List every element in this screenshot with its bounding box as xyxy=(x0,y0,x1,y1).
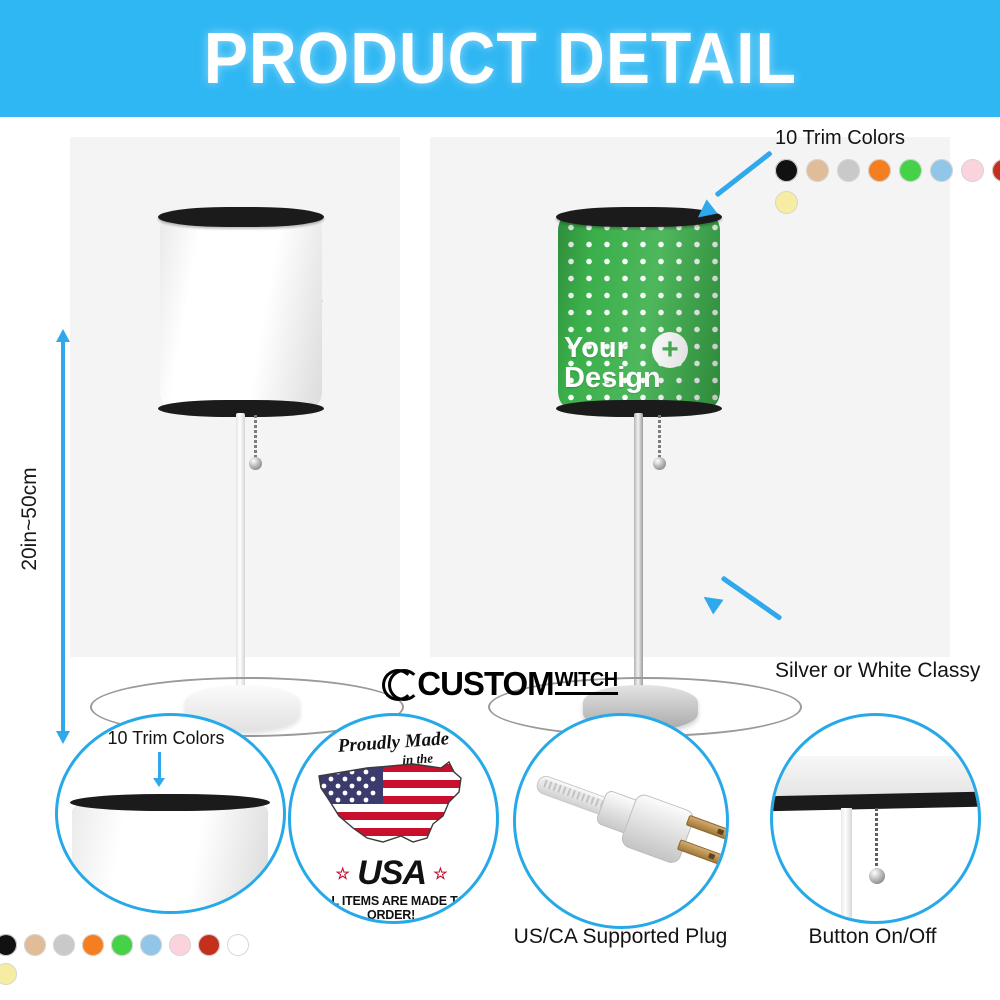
height-dimension-label: 20in~50cm xyxy=(18,434,42,604)
shade-trim-top xyxy=(158,207,324,227)
trim-swatch-row-2 xyxy=(775,191,1000,214)
lampshade-green: Your Design + xyxy=(558,207,720,414)
swatch-orange[interactable] xyxy=(868,159,891,182)
lamp-pole xyxy=(841,808,852,924)
down-arrow-head-icon xyxy=(153,778,165,787)
pull-chain[interactable] xyxy=(254,415,257,460)
logo-secondary-wrap: WITCH xyxy=(555,670,618,695)
swatch-dark-red[interactable] xyxy=(198,934,220,956)
swatch-dark-red[interactable] xyxy=(992,159,1000,182)
pull-chain[interactable] xyxy=(875,808,878,870)
logo-primary-text: CUSTOM xyxy=(417,665,553,703)
logo-secondary-text: WITCH xyxy=(555,670,618,690)
feature-made-in-usa: Proudly Made in the xyxy=(288,713,503,1000)
feature-plug: US/CA Supported Plug xyxy=(513,713,738,1000)
trim-colors-block: 10 Trim Colors xyxy=(775,127,1000,214)
feature-label-plug: US/CA Supported Plug xyxy=(503,925,738,949)
pull-chain-ball[interactable] xyxy=(249,457,262,470)
swatch-light-gray[interactable] xyxy=(53,934,75,956)
main-stage: 7in~18cm 20in~50cm xyxy=(0,117,1000,660)
lampshade-white xyxy=(160,207,322,414)
feature-switch: Button On/Off xyxy=(770,713,985,1000)
usa-subtext: ALL ITEMS ARE MADE TO ORDER! xyxy=(291,894,491,922)
swatch-tan[interactable] xyxy=(24,934,46,956)
shade-surface xyxy=(160,215,322,407)
swatch-pink[interactable] xyxy=(961,159,984,182)
base-callout-arrow xyxy=(706,549,796,609)
feature-title: 10 Trim Colors xyxy=(86,728,246,749)
lampshade-closeup xyxy=(70,794,270,914)
swatch-tan[interactable] xyxy=(806,159,829,182)
swatch-light-blue[interactable] xyxy=(140,934,162,956)
swatch-black[interactable] xyxy=(775,159,798,182)
page-title: PRODUCT DETAIL xyxy=(203,18,796,100)
brand-logo: CUSTOM WITCH xyxy=(0,663,1000,705)
trim-swatch-row-1 xyxy=(775,159,1000,182)
pull-chain[interactable] xyxy=(658,415,661,460)
star-right-icon: ☆ xyxy=(433,866,446,883)
swatch-white[interactable] xyxy=(227,934,249,956)
bottom-swatch-row-1 xyxy=(0,934,249,956)
us-plug-icon xyxy=(513,743,729,929)
usa-word: ☆ USA ☆ xyxy=(291,856,491,892)
trim-callout-arrow xyxy=(698,165,784,227)
bottom-swatch-row-2 xyxy=(0,963,249,985)
bottom-trim-swatches xyxy=(0,925,249,985)
shade-shading-overlay xyxy=(558,215,720,407)
swatch-light-gray[interactable] xyxy=(837,159,860,182)
swatch-pink[interactable] xyxy=(169,934,191,956)
swatch-yellow[interactable] xyxy=(775,191,798,214)
feature-circle: 10 Trim Colors xyxy=(55,713,286,914)
star-left-icon: ☆ xyxy=(335,866,348,883)
trim-colors-title: 10 Trim Colors xyxy=(775,127,1000,150)
usa-flag-map-icon xyxy=(309,758,473,854)
product-detail-page: PRODUCT DETAIL 7in~18cm 20in~50cm xyxy=(0,0,1000,1000)
swatch-light-blue[interactable] xyxy=(930,159,953,182)
logo-underline xyxy=(555,692,618,695)
feature-circle: Proudly Made in the xyxy=(288,713,499,924)
logo-c-mark-icon xyxy=(382,667,416,701)
header-banner: PRODUCT DETAIL xyxy=(0,0,1000,117)
feature-circle xyxy=(513,713,729,929)
pull-chain-ball[interactable] xyxy=(869,868,885,884)
down-arrow-shaft-icon xyxy=(158,752,161,780)
swatch-yellow[interactable] xyxy=(0,963,17,985)
swatch-green[interactable] xyxy=(899,159,922,182)
feature-label-switch: Button On/Off xyxy=(770,925,975,949)
shade-surface xyxy=(72,806,268,914)
swatch-orange[interactable] xyxy=(82,934,104,956)
plug-prong-bottom xyxy=(677,839,724,865)
shade-trim xyxy=(70,794,270,811)
feature-panels: 10 Trim Colors Proudly Made in the xyxy=(0,713,1000,1000)
feature-circle xyxy=(770,713,981,924)
pull-chain-ball[interactable] xyxy=(653,457,666,470)
lampshade-bottom-closeup xyxy=(770,756,979,816)
usa-word-text: USA xyxy=(357,854,425,892)
swatch-black[interactable] xyxy=(0,934,17,956)
shade-surface: Your Design + xyxy=(558,215,720,407)
swatch-green[interactable] xyxy=(111,934,133,956)
plug-prong-top xyxy=(686,815,729,841)
